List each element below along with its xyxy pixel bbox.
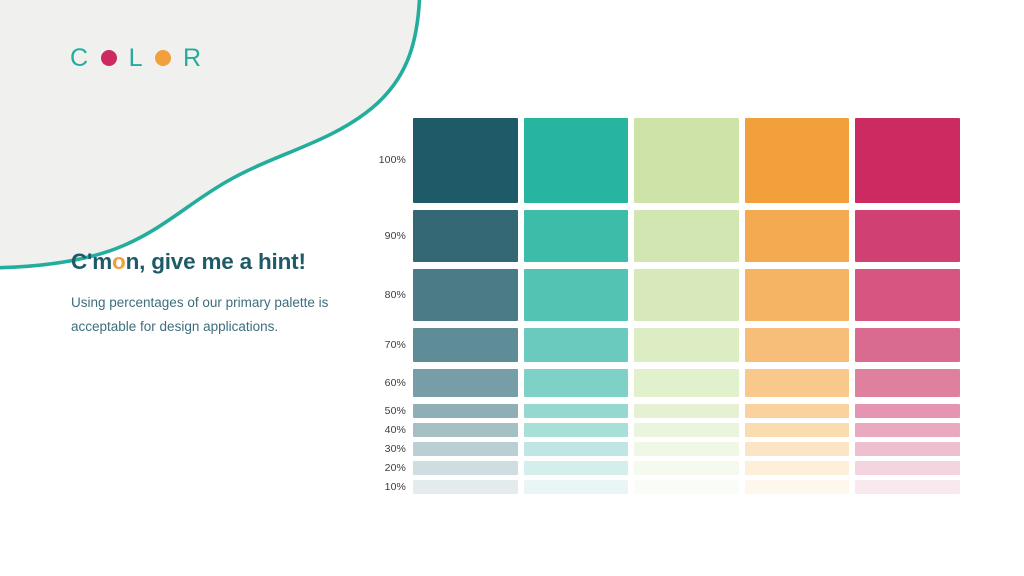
swatch-teal-20pct[interactable] [524, 461, 629, 475]
swatch-light-green-70pct[interactable] [634, 328, 739, 362]
logo-letter-r: R [183, 46, 202, 71]
swatch-dark-teal-60pct[interactable] [413, 369, 518, 397]
swatch-dark-teal-100pct[interactable] [413, 118, 518, 203]
headline-part-before: C'm [71, 249, 112, 274]
swatch-dark-teal-20pct[interactable] [413, 461, 518, 475]
swatch-dark-teal-30pct[interactable] [413, 442, 518, 456]
row-label-20pct: 20% [372, 463, 413, 474]
copy-block: C'mon, give me a hint! Using percentages… [71, 248, 329, 339]
swatch-teal-60pct[interactable] [524, 369, 629, 397]
swatch-orange-40pct[interactable] [745, 423, 850, 437]
swatch-teal-30pct[interactable] [524, 442, 629, 456]
blob-outline-stroke [0, 0, 420, 268]
swatch-magenta-10pct[interactable] [855, 480, 960, 494]
swatch-magenta-100pct[interactable] [855, 118, 960, 203]
row-label-40pct: 40% [372, 425, 413, 436]
swatch-dark-teal-50pct[interactable] [413, 404, 518, 418]
swatch-orange-60pct[interactable] [745, 369, 850, 397]
swatch-magenta-60pct[interactable] [855, 369, 960, 397]
swatch-teal-50pct[interactable] [524, 404, 629, 418]
swatch-dark-teal-70pct[interactable] [413, 328, 518, 362]
swatch-magenta-30pct[interactable] [855, 442, 960, 456]
swatch-light-green-100pct[interactable] [634, 118, 739, 203]
swatch-teal-80pct[interactable] [524, 269, 629, 321]
swatch-orange-20pct[interactable] [745, 461, 850, 475]
blob-fill-shape [0, 0, 420, 268]
row-swatches [413, 404, 960, 418]
swatch-magenta-50pct[interactable] [855, 404, 960, 418]
row-label-80pct: 80% [372, 290, 413, 301]
row-swatches [413, 269, 960, 321]
logo-dot-o-magenta [101, 50, 117, 66]
logo: C L R [70, 43, 202, 73]
swatch-dark-teal-40pct[interactable] [413, 423, 518, 437]
swatch-magenta-90pct[interactable] [855, 210, 960, 262]
row-swatches [413, 210, 960, 262]
row-label-100pct: 100% [372, 155, 413, 166]
matrix-row: 30% [372, 442, 960, 456]
swatch-orange-50pct[interactable] [745, 404, 850, 418]
row-swatches [413, 442, 960, 456]
swatch-light-green-10pct[interactable] [634, 480, 739, 494]
matrix-row: 80% [372, 269, 960, 321]
swatch-light-green-90pct[interactable] [634, 210, 739, 262]
row-swatches [413, 480, 960, 494]
swatch-light-green-40pct[interactable] [634, 423, 739, 437]
swatch-light-green-60pct[interactable] [634, 369, 739, 397]
row-label-60pct: 60% [372, 378, 413, 389]
matrix-row: 60% [372, 369, 960, 397]
swatch-dark-teal-80pct[interactable] [413, 269, 518, 321]
swatch-orange-90pct[interactable] [745, 210, 850, 262]
swatch-magenta-40pct[interactable] [855, 423, 960, 437]
swatch-magenta-80pct[interactable] [855, 269, 960, 321]
row-label-90pct: 90% [372, 231, 413, 242]
swatch-magenta-70pct[interactable] [855, 328, 960, 362]
swatch-orange-10pct[interactable] [745, 480, 850, 494]
row-swatches [413, 118, 960, 203]
logo-letter-c: C [70, 46, 89, 71]
swatch-teal-70pct[interactable] [524, 328, 629, 362]
headline-accent-letter: o [112, 249, 126, 274]
color-matrix: 100%90%80%70%60%50%40%30%20%10% [372, 118, 960, 494]
body-paragraph: Using percentages of our primary palette… [71, 291, 329, 339]
swatch-teal-90pct[interactable] [524, 210, 629, 262]
row-label-50pct: 50% [372, 406, 413, 417]
swatch-light-green-20pct[interactable] [634, 461, 739, 475]
row-swatches [413, 369, 960, 397]
swatch-dark-teal-10pct[interactable] [413, 480, 518, 494]
logo-letter-l: L [129, 46, 143, 71]
swatch-light-green-80pct[interactable] [634, 269, 739, 321]
row-swatches [413, 423, 960, 437]
swatch-light-green-50pct[interactable] [634, 404, 739, 418]
matrix-row: 40% [372, 423, 960, 437]
swatch-teal-10pct[interactable] [524, 480, 629, 494]
matrix-row: 20% [372, 461, 960, 475]
row-label-70pct: 70% [372, 340, 413, 351]
swatch-orange-30pct[interactable] [745, 442, 850, 456]
swatch-orange-100pct[interactable] [745, 118, 850, 203]
row-label-10pct: 10% [372, 482, 413, 493]
swatch-light-green-30pct[interactable] [634, 442, 739, 456]
swatch-orange-80pct[interactable] [745, 269, 850, 321]
page-title: C'mon, give me a hint! [71, 248, 329, 275]
row-label-30pct: 30% [372, 444, 413, 455]
swatch-orange-70pct[interactable] [745, 328, 850, 362]
matrix-row: 100% [372, 118, 960, 203]
swatch-magenta-20pct[interactable] [855, 461, 960, 475]
matrix-row: 70% [372, 328, 960, 362]
row-swatches [413, 328, 960, 362]
swatch-teal-40pct[interactable] [524, 423, 629, 437]
matrix-row: 90% [372, 210, 960, 262]
swatch-teal-100pct[interactable] [524, 118, 629, 203]
row-swatches [413, 461, 960, 475]
matrix-row: 10% [372, 480, 960, 494]
logo-dot-o-orange [155, 50, 171, 66]
slide-canvas: C L R C'mon, give me a hint! Using perce… [0, 0, 1024, 576]
headline-part-after: n, give me a hint! [126, 249, 306, 274]
swatch-dark-teal-90pct[interactable] [413, 210, 518, 262]
matrix-row: 50% [372, 404, 960, 418]
